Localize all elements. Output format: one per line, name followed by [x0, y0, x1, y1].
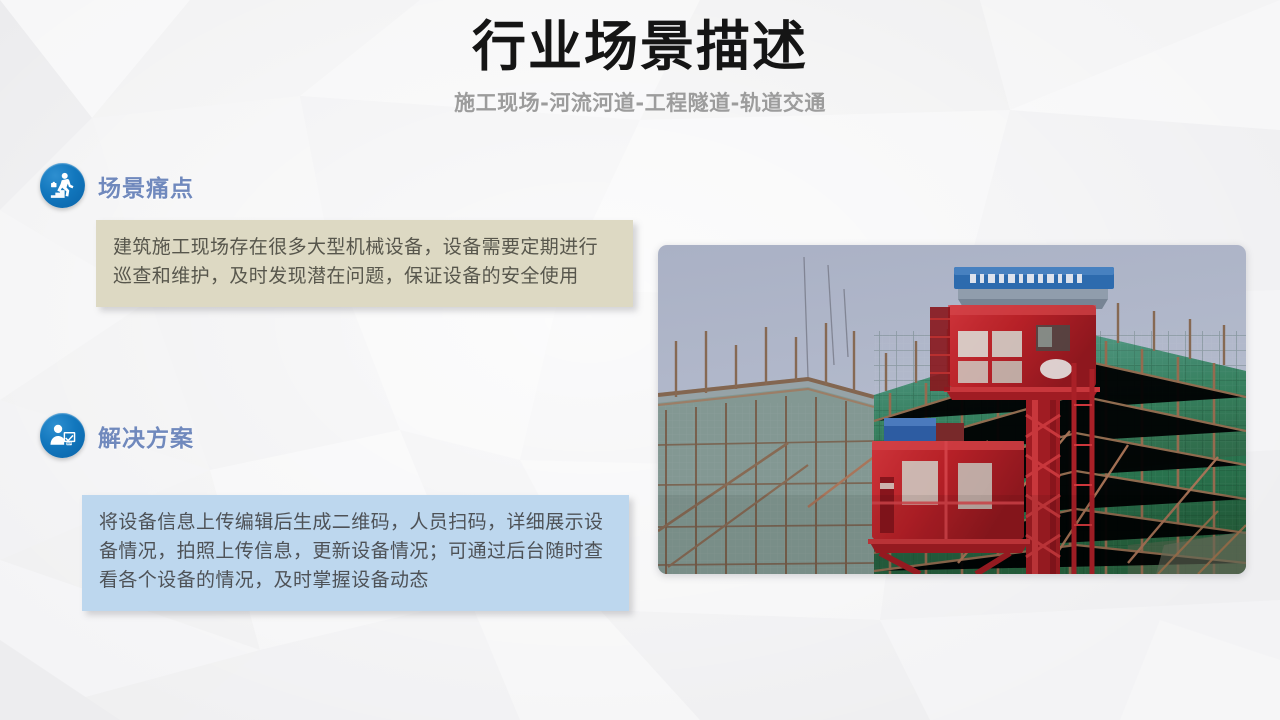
solution-text-box: 将设备信息上传编辑后生成二维码，人员扫码，详细展示设备情况，拍照上传信息，更新设… — [82, 495, 629, 611]
page-subtitle: 施工现场-河流河道-工程隧道-轨道交通 — [0, 87, 1280, 117]
section-solution: UP 解决方案 — [40, 413, 194, 458]
section-header: UP 解决方案 — [40, 413, 194, 458]
slide-root: 行业场景描述 施工现场-河流河道-工程隧道-轨道交通 场景痛点 建筑施工现场存在… — [0, 0, 1280, 720]
pain-points-text-box: 建筑施工现场存在很多大型机械设备，设备需要定期进行巡查和维护，及时发现潜在问题，… — [96, 220, 633, 307]
slide-header: 行业场景描述 施工现场-河流河道-工程隧道-轨道交通 — [0, 0, 1280, 117]
svg-text:UP: UP — [67, 442, 72, 446]
construction-site-photo — [658, 245, 1246, 574]
section-pain-points: 场景痛点 — [40, 163, 194, 208]
section-header: 场景痛点 — [40, 163, 194, 208]
section-title: 解决方案 — [98, 419, 194, 453]
page-title: 行业场景描述 — [0, 15, 1280, 79]
person-chart-board-icon: UP — [40, 413, 85, 458]
running-person-stairs-icon — [40, 163, 85, 208]
section-title: 场景痛点 — [98, 169, 194, 203]
